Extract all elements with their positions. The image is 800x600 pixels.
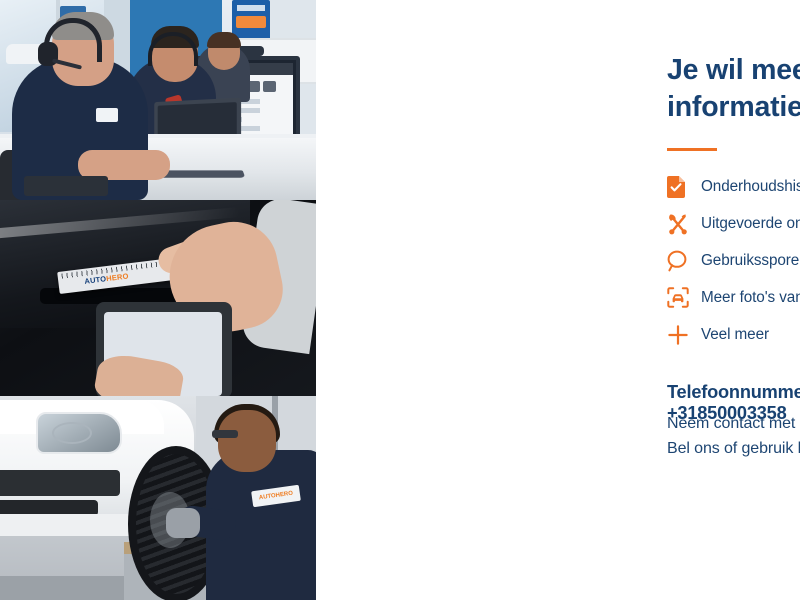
feature-item-gebruikssporen: Gebruikssporen — [667, 242, 800, 279]
autohero-ruler-logo: AUTOHERO — [84, 271, 129, 285]
feature-label: Uitgevoerde onderhoudswerkzaamheden — [701, 215, 800, 233]
feature-item-onderhoudswerkzaamheden: Uitgevoerde onderhoudswerkzaamheden — [667, 205, 800, 242]
title-underline-rule — [667, 148, 717, 151]
photo-column: AUTOHERO — [0, 0, 316, 600]
feature-list: Onderhoudshistorie Uitgevoerd — [667, 168, 800, 353]
feature-label: Onderhoudshistorie — [701, 178, 800, 196]
contact-line-1: Neem contact met ons op voor meer inform… — [667, 412, 800, 437]
mechanic-wheel-inspection-photo: AUTOHERO — [0, 396, 316, 600]
plus-icon — [667, 324, 701, 346]
content-panel: Je wil meer informatie over: We geven je… — [316, 0, 800, 600]
car-inspection-ruler-photo: AUTOHERO — [0, 200, 316, 396]
car-photo-frame-icon — [667, 287, 701, 308]
contact-line-2: Bel ons of gebruik het contactformulier. — [667, 437, 800, 462]
call-center-agents-photo — [0, 0, 316, 200]
promo-page: AUTOHERO — [0, 0, 800, 600]
crossed-tools-icon — [667, 213, 701, 235]
feature-label: Veel meer — [701, 326, 769, 344]
page-title-line-1: Je wil meer — [667, 54, 800, 86]
feature-item-meer-fotos: Meer foto's van de auto — [667, 279, 800, 316]
feature-item-onderhoudshistorie: Onderhoudshistorie — [667, 168, 800, 205]
page-title: Je wil meer informatie over: — [667, 52, 800, 126]
feature-label: Gebruikssporen — [701, 252, 800, 270]
magnifying-glass-icon — [667, 250, 701, 272]
feature-item-veel-meer: Veel meer — [667, 316, 800, 353]
contact-paragraph: Neem contact met ons op voor meer inform… — [667, 412, 800, 462]
page-title-line-2: informatie over: — [667, 91, 800, 123]
feature-label: Meer foto's van de auto — [701, 289, 800, 307]
document-check-icon — [667, 176, 701, 198]
